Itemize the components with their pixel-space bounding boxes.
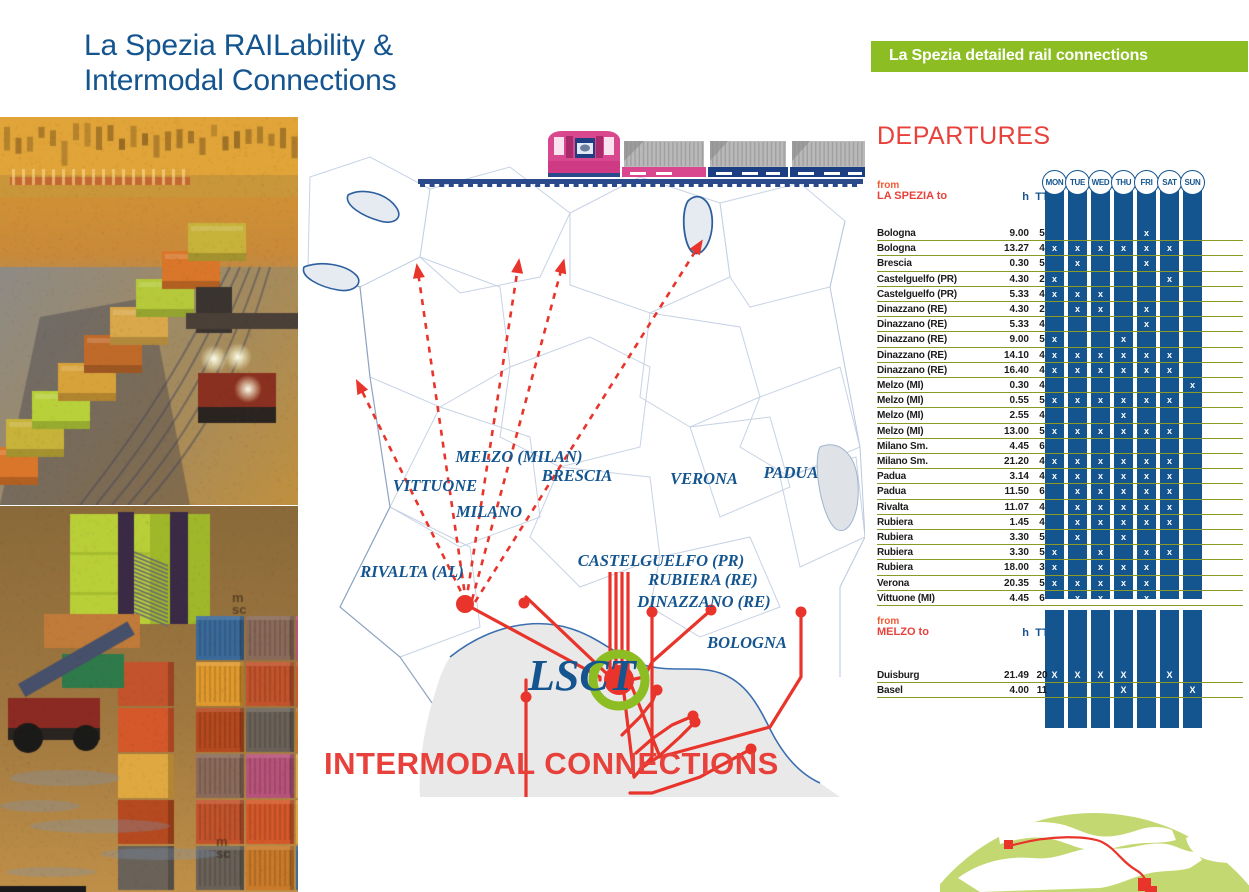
departure-time-cell: 0.55 [989,395,1029,406]
day-mark-thu: X [1114,685,1133,695]
departure-time-cell: 13.00 [989,426,1029,437]
day-mark-tue: x [1068,471,1087,481]
table-row[interactable]: Milano Sm.4.456 [871,439,1249,454]
la-spezia-from-label: fromLA SPEZIA to [877,180,947,202]
day-mark-sat: x [1160,395,1179,405]
day-mark-wed: x [1091,395,1110,405]
departure-time-cell: 0.30 [989,258,1029,269]
departure-time-cell: 4.45 [989,441,1029,452]
transit-time-cell: 2 [1034,304,1050,315]
day-mark-tue: x [1068,365,1087,375]
departures-table: MONTUEWEDTHUFRISATSUNfromLA SPEZIA tohTT… [871,170,1249,780]
day-mark-fri: x [1137,471,1156,481]
departure-time-cell: 11.50 [989,486,1029,497]
destination-cell: Dinazzano (RE) [877,350,947,361]
destination-cell: Dinazzano (RE) [877,365,947,376]
destination-cell: Padua [877,471,906,482]
day-mark-fri: x [1137,578,1156,588]
map-node-vittuone [519,598,530,609]
dashed-route-3 [472,267,562,600]
day-header-wed: WED [1088,170,1113,195]
day-mark-sat: x [1160,365,1179,375]
departure-time-cell: 0.30 [989,380,1029,391]
city-label-padua: PADUA [763,463,819,482]
day-mark-mon: x [1045,578,1064,588]
day-mark-fri: x [1137,562,1156,572]
day-mark-thu: x [1114,350,1133,360]
day-mark-tue: x [1068,593,1087,603]
departure-time-cell: 3.14 [989,471,1029,482]
destination-cell: Dinazzano (RE) [877,334,947,345]
day-mark-thu: x [1114,456,1133,466]
table-row[interactable]: Melzo (MI)2.554x [871,408,1249,423]
day-header-thu: THU [1111,170,1136,195]
table-row[interactable]: Castelguelfo (PR)5.334xxx [871,287,1249,302]
city-label-melzo-milan: MELZO (MILAN) [455,447,583,466]
column-header-h: h [989,191,1029,203]
column-header-h: h [989,627,1029,639]
day-mark-fri: x [1137,365,1156,375]
day-mark-sat: x [1160,243,1179,253]
row-separator [877,697,1243,698]
departure-time-cell: 18.00 [989,562,1029,573]
column-header-tt: TT [1031,627,1053,639]
table-row[interactable]: Dinazzano (RE)16.404xxxxxx [871,363,1249,378]
destination-cell: Padua [877,486,906,497]
departure-time-cell: 5.33 [989,289,1029,300]
page-title-line1: La Spezia RAILability & [84,28,604,63]
day-mark-mon: x [1045,243,1064,253]
day-mark-sat: X [1160,670,1179,680]
destination-cell: Melzo (MI) [877,426,923,437]
table-row[interactable]: Dinazzano (RE)14.104xxxxxx [871,348,1249,363]
day-mark-wed: x [1091,304,1110,314]
table-row[interactable]: Melzo (MI)0.555xxxxxx [871,393,1249,408]
departure-time-cell: 3.30 [989,547,1029,558]
page-title-line2: Intermodal Connections [84,63,604,98]
day-mark-fri: x [1137,502,1156,512]
map-region-6 [640,313,760,427]
day-mark-mon: X [1045,670,1064,680]
day-mark-mon: x [1045,471,1064,481]
city-label-castelguelfo-pr: CASTELGUELFO (PR) [578,551,744,570]
destination-cell: Melzo (MI) [877,395,923,406]
table-row[interactable]: Dinazzano (RE)5.334x [871,317,1249,332]
day-mark-mon: x [1045,334,1064,344]
map-node-dinazzano [690,717,701,728]
arrow-head-1 [411,262,425,279]
day-mark-wed: x [1091,426,1110,436]
day-mark-wed: x [1091,289,1110,299]
day-mark-fri: x [1137,426,1156,436]
day-mark-sun: X [1183,685,1202,695]
day-header-tue: TUE [1065,170,1090,195]
day-mark-wed: x [1091,578,1110,588]
transit-time-cell: 6 [1034,486,1050,497]
day-mark-tue: x [1068,456,1087,466]
map-node-padua [796,607,807,618]
destination-cell: Rubiera [877,547,913,558]
day-mark-fri: x [1137,547,1156,557]
day-mark-wed: x [1091,486,1110,496]
destination-cell: Bologna [877,243,916,254]
departure-time-cell: 21.49 [989,670,1029,681]
city-label-dinazzano-re: DINAZZANO (RE) [636,592,770,611]
city-label-brescia: BRESCIA [541,466,613,485]
day-mark-wed: X [1091,670,1110,680]
transit-time-cell: 5 [1034,258,1050,269]
day-mark-wed: x [1091,350,1110,360]
dashed-route-4 [475,247,698,602]
destination-cell: Castelguelfo (PR) [877,274,957,285]
transit-time-cell: 5 [1034,532,1050,543]
city-label-milano: MILANO [455,502,522,521]
table-row[interactable]: Milano Sm.21.204xxxxxx [871,454,1249,469]
table-row[interactable]: Duisburg21.4920XXXXX [871,668,1249,683]
day-mark-mon: x [1045,274,1064,284]
day-mark-thu: X [1114,670,1133,680]
day-mark-sun: x [1183,380,1202,390]
table-row[interactable]: Rubiera3.305xx [871,530,1249,545]
table-row[interactable]: Bologna9.005x [871,226,1249,241]
day-mark-wed: x [1091,365,1110,375]
globe-graphic [940,800,1249,892]
page-title: La Spezia RAILability & Intermodal Conne… [84,28,604,98]
destination-cell: Brescia [877,258,912,269]
arrow-head-2 [511,257,525,274]
departure-time-cell: 13.27 [989,243,1029,254]
destination-cell: Rivalta [877,502,908,513]
day-mark-sat: x [1160,547,1179,557]
day-mark-thu: x [1114,502,1133,512]
destination-cell: Melzo (MI) [877,410,923,421]
day-mark-fri: x [1137,258,1156,268]
day-mark-thu: x [1114,562,1133,572]
day-mark-tue: x [1068,258,1087,268]
day-mark-tue: X [1068,670,1087,680]
day-mark-wed: x [1091,243,1110,253]
day-mark-thu: x [1114,395,1133,405]
map-node-castelguelfo [652,685,663,696]
day-mark-mon: x [1045,289,1064,299]
poster-root: La Spezia RAILability & Intermodal Conne… [0,0,1249,892]
day-mark-fri: x [1137,395,1156,405]
day-mark-sat: x [1160,471,1179,481]
transit-time-cell: 4 [1034,380,1050,391]
destination-cell: Bologna [877,228,916,239]
table-row[interactable]: Rubiera18.003xxxx [871,560,1249,575]
day-mark-fri: x [1137,486,1156,496]
day-mark-mon: x [1045,456,1064,466]
map-region-12 [340,507,480,657]
day-header-sun: SUN [1180,170,1205,195]
day-mark-mon: x [1045,426,1064,436]
departure-time-cell: 4.30 [989,304,1029,315]
transit-time-cell: 4 [1034,517,1050,528]
destination-cell: Duisburg [877,670,919,681]
day-mark-thu: x [1114,365,1133,375]
table-row[interactable]: Dinazzano (RE)4.302xxx [871,302,1249,317]
day-mark-sat: x [1160,274,1179,284]
day-mark-sat: x [1160,502,1179,512]
day-mark-mon: x [1045,547,1064,557]
destination-cell: Rubiera [877,562,913,573]
day-header-sat: SAT [1157,170,1182,195]
freight-train-illustration [418,131,865,187]
map-node-melzo [456,595,474,613]
destination-cell: Verona [877,578,909,589]
day-mark-tue: x [1068,486,1087,496]
departure-time-cell: 21.20 [989,456,1029,467]
city-label-vittuone: VITTUONE [393,476,477,495]
day-mark-wed: x [1091,562,1110,572]
day-mark-thu: x [1114,410,1133,420]
day-mark-sat: x [1160,426,1179,436]
table-row[interactable]: Verona20.355xxxxx [871,576,1249,591]
day-mark-fri: x [1137,593,1156,603]
departure-time-cell: 1.45 [989,517,1029,528]
destination-cell: Melzo (MI) [877,380,923,391]
lake-como [303,264,358,291]
city-label-rivalta-al: RIVALTA (AL) [359,562,463,581]
table-row[interactable]: Rivalta11.074xxxxx [871,500,1249,515]
dashed-route-2 [466,267,518,602]
table-row[interactable]: Rubiera1.454xxxxx [871,515,1249,530]
table-row[interactable]: Brescia0.305xx [871,256,1249,271]
day-mark-sat: x [1160,517,1179,527]
destination-cell: Vittuone (MI) [877,593,935,604]
day-mark-mon: x [1045,365,1064,375]
lake-maggiore [347,191,398,222]
table-row[interactable]: Padua3.144xxxxxx [871,469,1249,484]
day-mark-wed: x [1091,471,1110,481]
day-mark-fri: x [1137,517,1156,527]
day-mark-tue: x [1068,304,1087,314]
destination-cell: Castelguelfo (PR) [877,289,957,300]
departure-time-cell: 16.40 [989,365,1029,376]
column-header-tt: TT [1031,191,1053,203]
transit-time-cell: 4 [1034,410,1050,421]
day-mark-thu: x [1114,471,1133,481]
departure-time-cell: 4.45 [989,593,1029,604]
departure-time-cell: 9.00 [989,334,1029,345]
day-mark-thu: x [1114,426,1133,436]
day-mark-tue: x [1068,395,1087,405]
table-row[interactable]: Bologna13.274xxxxxx [871,241,1249,256]
day-mark-fri: x [1137,304,1156,314]
from-origin: LA SPEZIA to [877,191,947,202]
banner-label: La Spezia detailed rail connections [889,47,1148,65]
table-row[interactable]: Melzo (MI)0.304x [871,378,1249,393]
arrow-head-3 [555,257,571,275]
day-mark-sat: x [1160,486,1179,496]
day-mark-tue: x [1068,502,1087,512]
day-mark-sat: x [1160,456,1179,466]
day-mark-fri: x [1137,350,1156,360]
day-mark-fri: x [1137,456,1156,466]
departure-time-cell: 9.00 [989,228,1029,239]
transit-time-cell: 6 [1034,441,1050,452]
departure-time-cell: 4.00 [989,685,1029,696]
departure-time-cell: 4.30 [989,274,1029,285]
melzo-from-label: fromMELZO to [877,616,929,638]
intermodal-connections-map: MELZO (MILAN)VITTUONEMILANOBRESCIAVERONA… [300,117,865,797]
day-mark-wed: x [1091,517,1110,527]
transit-time-cell: 4 [1034,319,1050,330]
day-mark-wed: x [1091,456,1110,466]
day-mark-sat: x [1160,350,1179,360]
lsct-label: LSCT [527,651,638,700]
row-separator [877,605,1243,606]
from-origin: MELZO to [877,627,929,638]
destination-cell: Dinazzano (RE) [877,304,947,315]
departure-time-cell: 20.35 [989,578,1029,589]
rail-connections-banner: La Spezia detailed rail connections [871,41,1248,72]
city-label-verona: VERONA [670,469,738,488]
day-mark-mon: x [1045,395,1064,405]
day-mark-fri: x [1137,228,1156,238]
departure-time-cell: 3.30 [989,532,1029,543]
table-row[interactable]: Rubiera3.305xxxx [871,545,1249,560]
table-row[interactable]: Dinazzano (RE)9.005xx [871,332,1249,347]
day-mark-thu: x [1114,243,1133,253]
departure-time-cell: 14.10 [989,350,1029,361]
day-mark-mon: x [1045,350,1064,360]
day-mark-wed: x [1091,502,1110,512]
departure-time-cell: 5.33 [989,319,1029,330]
day-mark-tue: x [1068,243,1087,253]
table-row[interactable]: Melzo (MI)13.005xxxxxx [871,424,1249,439]
day-mark-tue: x [1068,532,1087,542]
day-mark-tue: x [1068,426,1087,436]
city-label-rubiera-re: RUBIERA (RE) [647,570,758,589]
table-row[interactable]: Castelguelfo (PR)4.302xx [871,272,1249,287]
day-mark-tue: x [1068,517,1087,527]
day-mark-thu: x [1114,578,1133,588]
departure-time-cell: 11.07 [989,502,1029,513]
destination-cell: Basel [877,685,903,696]
transit-time-cell: 4 [1034,502,1050,513]
table-row[interactable]: Basel4.0011XX [871,683,1249,698]
day-mark-wed: x [1091,593,1110,603]
arrow-head-0 [351,376,369,395]
day-mark-tue: x [1068,289,1087,299]
destination-cell: Rubiera [877,517,913,528]
day-mark-thu: x [1114,486,1133,496]
destination-cell: Rubiera [877,532,913,543]
transit-time-cell: 6 [1034,593,1050,604]
day-mark-wed: x [1091,547,1110,557]
day-mark-mon: x [1045,562,1064,572]
photo-container-stacks [0,506,298,892]
departure-time-cell: 2.55 [989,410,1029,421]
day-mark-fri: x [1137,243,1156,253]
day-mark-thu: x [1114,517,1133,527]
city-label-bologna: BOLOGNA [706,633,787,652]
day-mark-thu: x [1114,532,1133,542]
map-region-3 [720,183,845,307]
day-mark-tue: x [1068,350,1087,360]
destination-cell: Dinazzano (RE) [877,319,947,330]
day-mark-tue: x [1068,578,1087,588]
destination-cell: Milano Sm. [877,441,928,452]
map-footer-label: INTERMODAL CONNECTIONS [324,746,779,781]
destination-cell: Milano Sm. [877,456,928,467]
table-row[interactable]: Vittuone (MI)4.456xxx [871,591,1249,606]
departures-heading: DEPARTURES [877,122,1051,151]
day-mark-fri: x [1137,319,1156,329]
transit-time-cell: 11 [1034,685,1050,696]
day-header-fri: FRI [1134,170,1159,195]
table-row[interactable]: Padua11.506xxxxx [871,484,1249,499]
transit-time-cell: 5 [1034,228,1050,239]
photo-rail-yard [0,117,298,505]
day-mark-thu: x [1114,334,1133,344]
